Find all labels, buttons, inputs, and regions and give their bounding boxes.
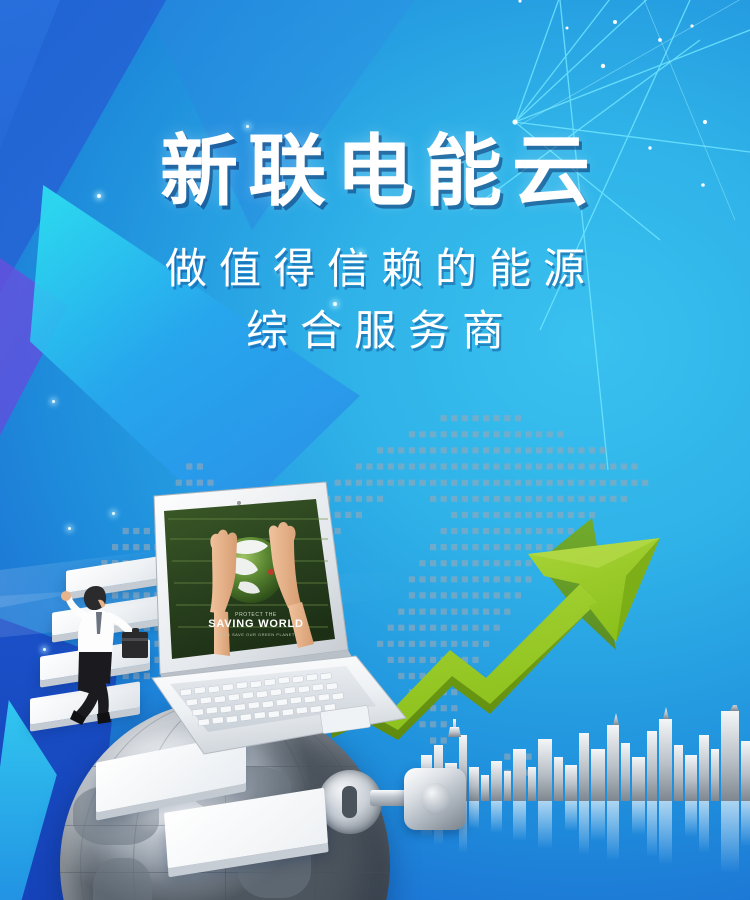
poster-title: 新联电能云 [0,128,750,214]
key-bow [404,768,466,830]
glow-dot [68,527,71,530]
screen-tagline: LET'S SAVE OUR GREEN PLANET [217,632,295,637]
screen-headline: SAVING WORLD [208,618,304,630]
glow-dot [43,648,46,651]
promo-poster: 新联电能云 做值得信赖的能源 综合服务商 [0,0,750,900]
headline-block: 新联电能云 做值得信赖的能源 综合服务商 [0,128,750,362]
poster-subtitle-line-1: 做值得信赖的能源 [0,238,750,300]
glow-dot [52,400,55,403]
poster-subtitle-line-2: 综合服务商 [0,300,750,362]
laptop-computer: PROTECT THE SAVING WORLD LET'S SAVE OUR … [108,478,408,758]
